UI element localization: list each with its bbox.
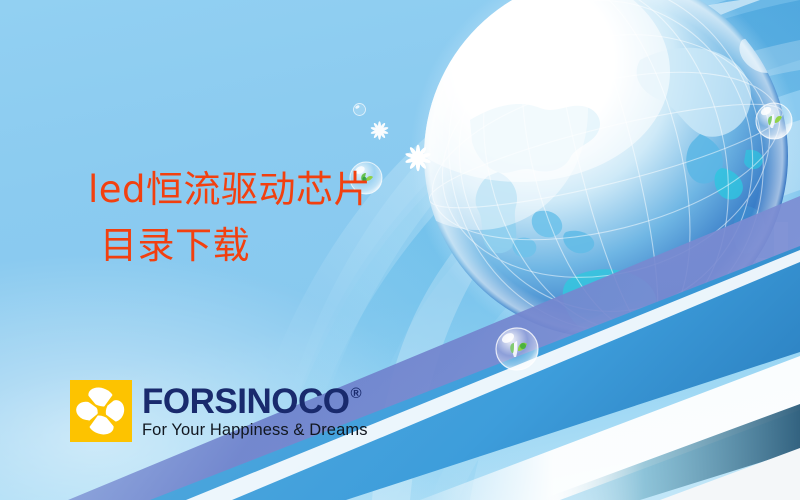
bubble-with-leaf-icon	[493, 325, 541, 378]
brand-tagline: For Your Happiness & Dreams	[142, 422, 368, 439]
light-beam	[430, 300, 660, 500]
starburst-flower-icon	[369, 120, 390, 146]
city-skyline-icon	[588, 180, 788, 338]
registered-trademark-symbol: ®	[350, 386, 361, 401]
earth-globe-icon	[368, 0, 800, 365]
starburst-flower-icon	[403, 143, 433, 178]
brand-lockup-text: FORSINOCO ® For Your Happiness & Dreams	[142, 384, 368, 439]
bubble-plain-icon	[352, 102, 367, 122]
headline-block: led恒流驱动芯片 目录下载	[88, 162, 371, 274]
headline-line-2: 目录下载	[100, 218, 371, 274]
forsinoco-pinwheel-mark-icon	[70, 380, 132, 442]
brand-name: FORSINOCO	[142, 384, 349, 419]
brand-logo[interactable]: FORSINOCO ® For Your Happiness & Dreams	[70, 380, 368, 442]
promo-banner: led恒流驱动芯片 目录下载	[0, 0, 800, 500]
bubble-with-leaf-icon	[753, 100, 795, 147]
brand-name-row: FORSINOCO ®	[142, 384, 368, 419]
headline-line-1: led恒流驱动芯片	[88, 162, 371, 218]
